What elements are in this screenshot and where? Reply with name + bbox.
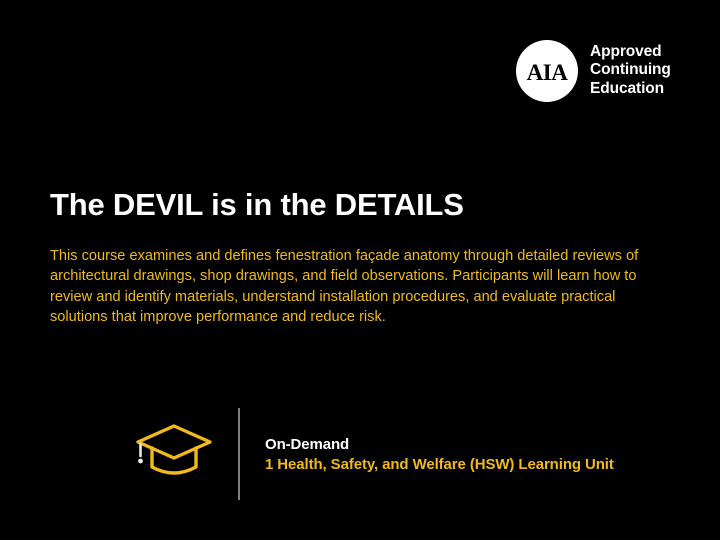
aia-caption-line-1: Approved — [590, 43, 671, 61]
aia-accreditation-lockup: AIA Approved Continuing Education — [516, 40, 671, 102]
course-credit-label: 1 Health, Safety, and Welfare (HSW) Lear… — [265, 456, 614, 473]
aia-caption: Approved Continuing Education — [590, 40, 671, 98]
course-title: The DEVIL is in the DETAILS — [50, 188, 464, 222]
aia-caption-line-2: Continuing — [590, 61, 671, 79]
meta-text-group: On-Demand 1 Health, Safety, and Welfare … — [265, 436, 614, 473]
graduation-cap-icon — [130, 421, 226, 487]
course-description: This course examines and defines fenestr… — [50, 246, 670, 328]
aia-caption-line-3: Education — [590, 80, 671, 98]
aia-seal-icon: AIA — [516, 40, 578, 102]
meta-divider — [238, 408, 240, 500]
course-slide: AIA Approved Continuing Education The DE… — [0, 0, 720, 540]
course-format-label: On-Demand — [265, 436, 614, 453]
course-meta-block: On-Demand 1 Health, Safety, and Welfare … — [130, 408, 614, 500]
aia-seal-label: AIA — [527, 61, 568, 84]
